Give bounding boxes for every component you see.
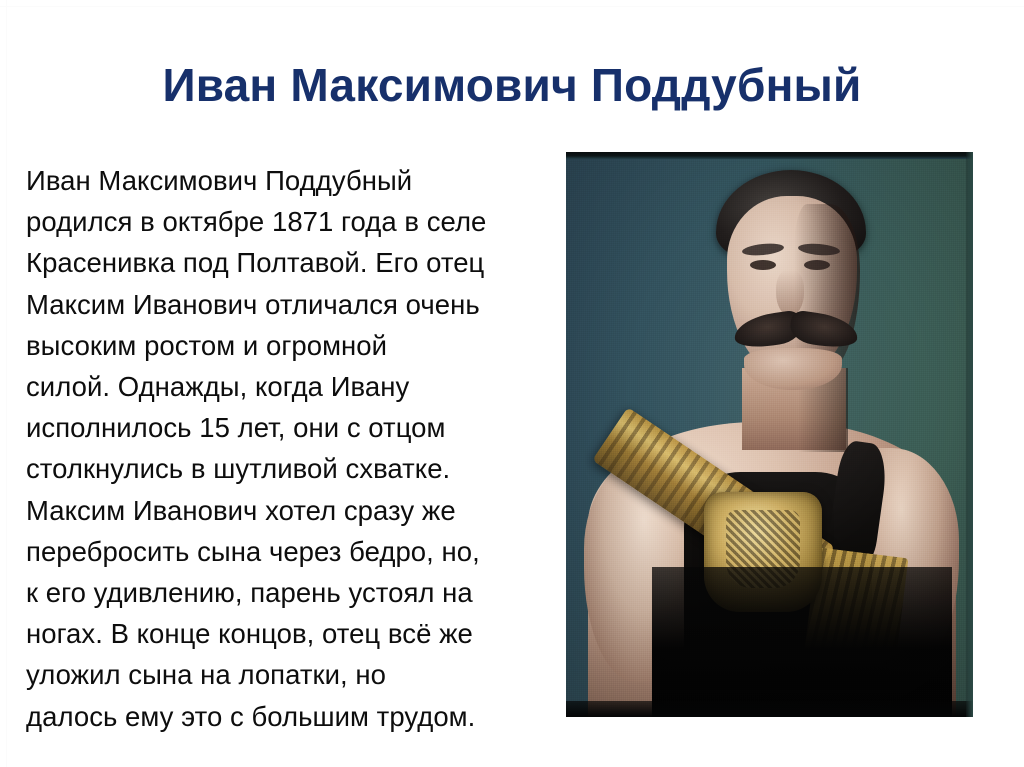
body-line: далось ему это с большим трудом.	[26, 696, 556, 737]
body-line: перебросить сына через бедро, но,	[26, 531, 556, 572]
page-title: Иван Максимович Поддубный	[0, 58, 1024, 112]
photo-right-band	[966, 152, 973, 717]
body-line: к его удивлению, парень устоял на	[26, 572, 556, 613]
body-line: столкнулись в шутливой схватке.	[26, 448, 556, 489]
slide-edge-top	[0, 6, 1024, 7]
slide-canvas: Иван Максимович Поддубный Иван Максимови…	[0, 0, 1024, 767]
photo-top-band	[566, 152, 973, 159]
body-line: Красенивка под Полтавой. Его отец	[26, 242, 556, 283]
body-line: родился в октябре 1871 года в селе	[26, 201, 556, 242]
portrait-photo	[566, 152, 973, 717]
body-line: Максим Иванович отличался очень	[26, 284, 556, 325]
body-line: исполнилось 15 лет, они с отцом	[26, 407, 556, 448]
slide-edge-left	[6, 0, 7, 767]
body-line: высоким ростом и огромной	[26, 325, 556, 366]
body-paragraph: Иван Максимович Поддубный родился в октя…	[26, 160, 556, 737]
body-line: Иван Максимович Поддубный	[26, 160, 556, 201]
body-line: Максим Иванович хотел сразу же	[26, 490, 556, 531]
body-line: ногах. В конце концов, отец всё же	[26, 613, 556, 654]
body-line: уложил сына на лопатки, но	[26, 654, 556, 695]
photo-grain	[566, 152, 973, 717]
body-line: силой. Однажды, когда Ивану	[26, 366, 556, 407]
